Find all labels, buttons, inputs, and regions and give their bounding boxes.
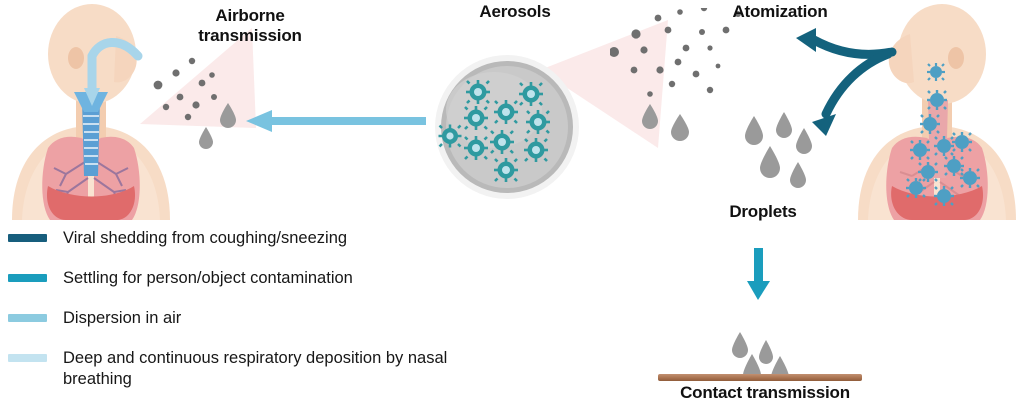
label-contact-transmission: Contact transmission xyxy=(630,383,900,403)
settling-arrow xyxy=(742,248,778,300)
label-airborne-transmission: Airborne transmission xyxy=(160,6,340,46)
legend-item: Dispersion in air xyxy=(0,308,500,329)
legend-swatch xyxy=(8,274,47,282)
legend-swatch xyxy=(8,314,47,322)
aerosol-particles-left xyxy=(150,45,260,155)
legend-swatch xyxy=(8,354,47,362)
magnified-aerosol-droplet xyxy=(432,52,582,202)
legend-label: Settling for person/object contamination xyxy=(63,268,353,289)
legend-item: Viral shedding from coughing/sneezing xyxy=(0,228,500,249)
legend-item: Deep and continuous respiratory depositi… xyxy=(0,348,500,390)
dispersion-arrow xyxy=(246,108,426,134)
legend-label: Viral shedding from coughing/sneezing xyxy=(63,228,347,249)
legend-item: Settling for person/object contamination xyxy=(0,268,500,289)
contact-surface-bar xyxy=(658,374,862,381)
figure-canvas: Airborne transmission Aerosols Atomizati… xyxy=(0,0,1024,409)
label-atomization: Atomization xyxy=(680,2,880,22)
legend-label: Deep and continuous respiratory depositi… xyxy=(63,348,483,390)
label-droplets: Droplets xyxy=(678,202,848,222)
label-aerosols: Aerosols xyxy=(440,2,590,22)
legend-swatch xyxy=(8,234,47,242)
falling-droplets xyxy=(722,330,812,378)
legend-label: Dispersion in air xyxy=(63,308,181,329)
legend: Viral shedding from coughing/sneezing Se… xyxy=(0,228,500,391)
droplet-particles xyxy=(740,110,830,200)
